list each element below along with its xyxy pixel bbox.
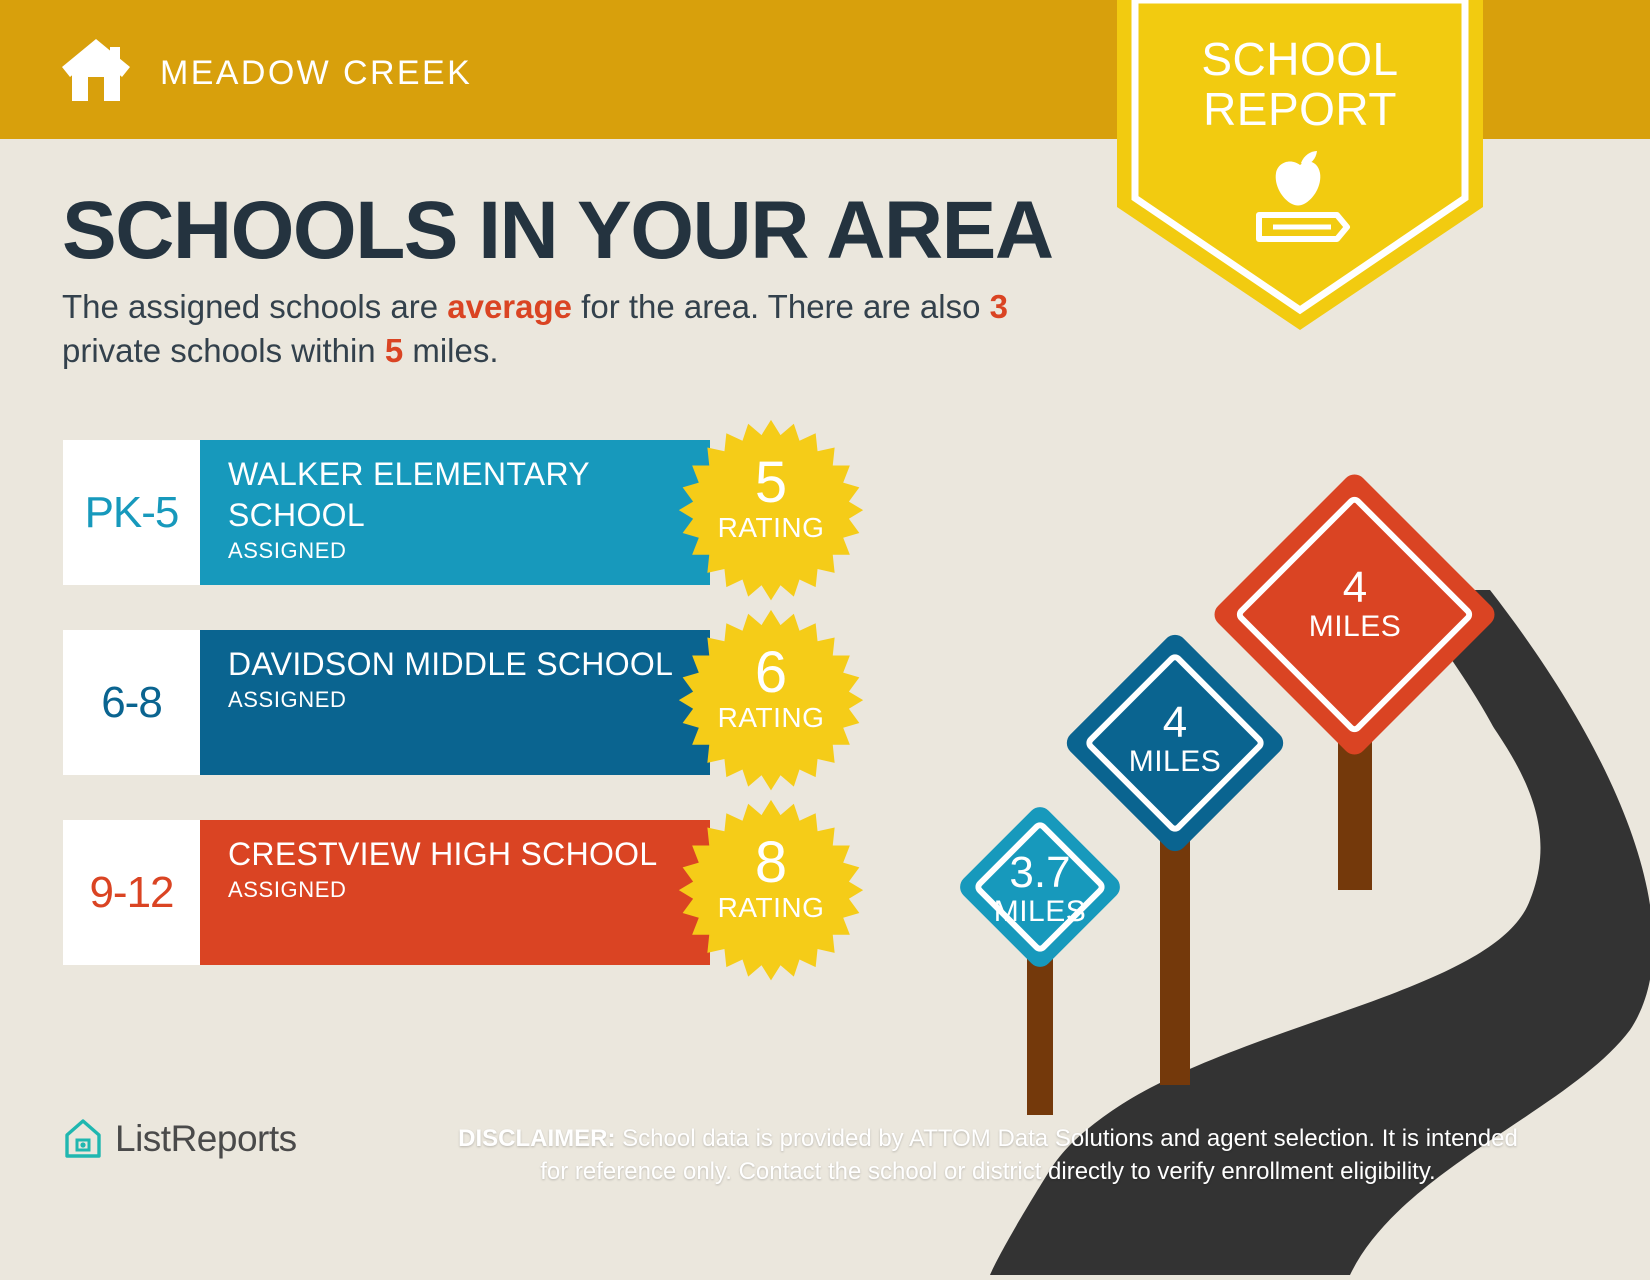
sign-label: 4 MILES xyxy=(1210,566,1500,644)
disclaimer: DISCLAIMER: School data is provided by A… xyxy=(458,1122,1518,1188)
subtitle-part-2: for the area. There are also xyxy=(572,288,990,325)
sign-post xyxy=(1160,835,1190,1085)
rating-caption: RATING xyxy=(676,512,866,544)
school-row[interactable]: 6-8 DAVIDSON MIDDLE SCHOOL ASSIGNED 6 RA… xyxy=(63,630,853,775)
subtitle-part-3: private schools within xyxy=(62,332,385,369)
grade-label: 6-8 xyxy=(101,678,162,728)
brand-name: MEADOW CREEK xyxy=(160,54,472,93)
rating-starburst: 5 RATING xyxy=(676,418,866,608)
listreports-logo[interactable]: ListReports xyxy=(63,1118,297,1160)
disclaimer-label: DISCLAIMER: xyxy=(458,1125,615,1152)
grade-box: PK-5 xyxy=(63,440,200,585)
rating-value: 5 xyxy=(676,454,866,512)
subtitle-part-1: The assigned schools are xyxy=(62,288,447,325)
rating-caption: RATING xyxy=(676,702,866,734)
school-name: WALKER ELEMENTARY SCHOOL xyxy=(228,454,710,536)
subtitle-highlight-miles: 5 xyxy=(385,332,403,369)
grade-box: 9-12 xyxy=(63,820,200,965)
school-info-bar: WALKER ELEMENTARY SCHOOL ASSIGNED xyxy=(200,440,710,585)
school-list: PK-5 WALKER ELEMENTARY SCHOOL ASSIGNED 5… xyxy=(63,440,853,1010)
distance-sign[interactable]: 4 MILES xyxy=(1210,490,1500,910)
school-row[interactable]: 9-12 CRESTVIEW HIGH SCHOOL ASSIGNED 8 RA… xyxy=(63,820,853,965)
rating-starburst: 6 RATING xyxy=(676,608,866,798)
school-name: DAVIDSON MIDDLE SCHOOL xyxy=(228,644,710,685)
sign-distance-value: 4 xyxy=(1210,566,1500,610)
listreports-wordmark: ListReports xyxy=(115,1118,297,1160)
apple-on-book-icon xyxy=(1245,147,1355,257)
grade-label: PK-5 xyxy=(85,488,179,538)
school-info-bar: CRESTVIEW HIGH SCHOOL ASSIGNED xyxy=(200,820,710,965)
school-status: ASSIGNED xyxy=(228,877,710,903)
subtitle-highlight-average: average xyxy=(447,288,572,325)
grade-label: 9-12 xyxy=(89,868,173,918)
home-icon xyxy=(60,33,132,105)
grade-box: 6-8 xyxy=(63,630,200,775)
sign-distance-unit: MILES xyxy=(1210,610,1500,644)
school-info-bar: DAVIDSON MIDDLE SCHOOL ASSIGNED xyxy=(200,630,710,775)
school-status: ASSIGNED xyxy=(228,538,710,564)
subtitle-part-4: miles. xyxy=(403,332,498,369)
sign-post xyxy=(1027,945,1053,1115)
subtitle: The assigned schools are average for the… xyxy=(62,285,1092,373)
school-name: CRESTVIEW HIGH SCHOOL xyxy=(228,834,710,875)
sign-post xyxy=(1338,740,1372,890)
listreports-house-icon xyxy=(63,1118,103,1160)
rating-value: 6 xyxy=(676,644,866,702)
rating-starburst: 8 RATING xyxy=(676,798,866,988)
page-title: SCHOOLS IN YOUR AREA xyxy=(62,190,1053,272)
school-status: ASSIGNED xyxy=(228,687,710,713)
school-report-badge: SCHOOL REPORT xyxy=(1117,0,1483,330)
disclaimer-body: School data is provided by ATTOM Data So… xyxy=(540,1125,1518,1185)
rating-caption: RATING xyxy=(676,892,866,924)
rating-value: 8 xyxy=(676,834,866,892)
school-row[interactable]: PK-5 WALKER ELEMENTARY SCHOOL ASSIGNED 5… xyxy=(63,440,853,585)
subtitle-highlight-count: 3 xyxy=(990,288,1008,325)
